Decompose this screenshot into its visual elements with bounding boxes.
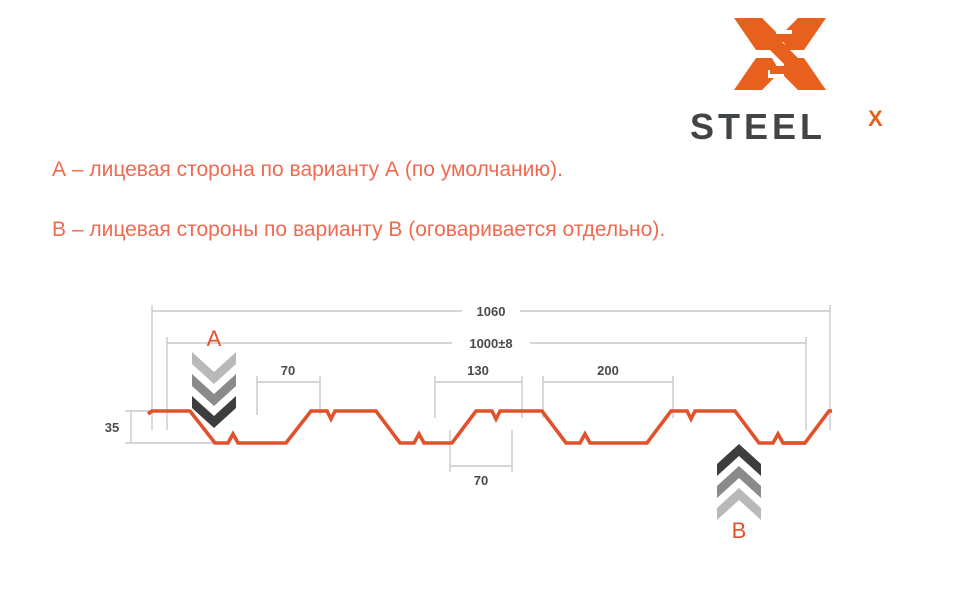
steelx-logo-icon — [732, 14, 828, 94]
chevron-up-stack-icon — [717, 444, 761, 520]
marker-b-label: B — [732, 518, 747, 543]
legend-variant-a: А – лицевая сторона по варианту А (по ум… — [52, 158, 563, 182]
marker-a: A — [192, 326, 236, 428]
dimension-label-70-top: 70 — [281, 363, 295, 378]
dimension-label-1060: 1060 — [477, 304, 506, 319]
brand-name: STEEL — [690, 106, 826, 147]
dimension-label-130: 130 — [467, 363, 489, 378]
legend-variant-b: В – лицевая стороны по варианту В (огова… — [52, 218, 665, 242]
dimension-label-70-bottom: 70 — [474, 473, 488, 488]
dimension-rib-top-width: 70 — [257, 363, 320, 415]
marker-b: B — [717, 444, 761, 543]
chevron-down-stack-icon — [192, 352, 236, 428]
dimension-rib-pitch: 200 — [543, 363, 673, 418]
dimension-valley-width: 70 — [450, 430, 512, 488]
dimension-working-width: 1000±8 — [167, 336, 806, 430]
dimension-label-1000: 1000±8 — [469, 336, 512, 351]
profile-drawing: 1060 1000±8 70 130 200 35 — [0, 280, 970, 580]
sheet-profile-line — [148, 411, 832, 443]
brand-superscript: X — [868, 106, 883, 131]
brand-logo: STEEL X — [690, 14, 905, 144]
dimension-label-200: 200 — [597, 363, 619, 378]
brand-wordmark: STEEL X — [690, 106, 905, 148]
marker-a-label: A — [207, 326, 222, 351]
dimension-height: 35 — [105, 411, 215, 443]
dimension-label-35: 35 — [105, 420, 119, 435]
